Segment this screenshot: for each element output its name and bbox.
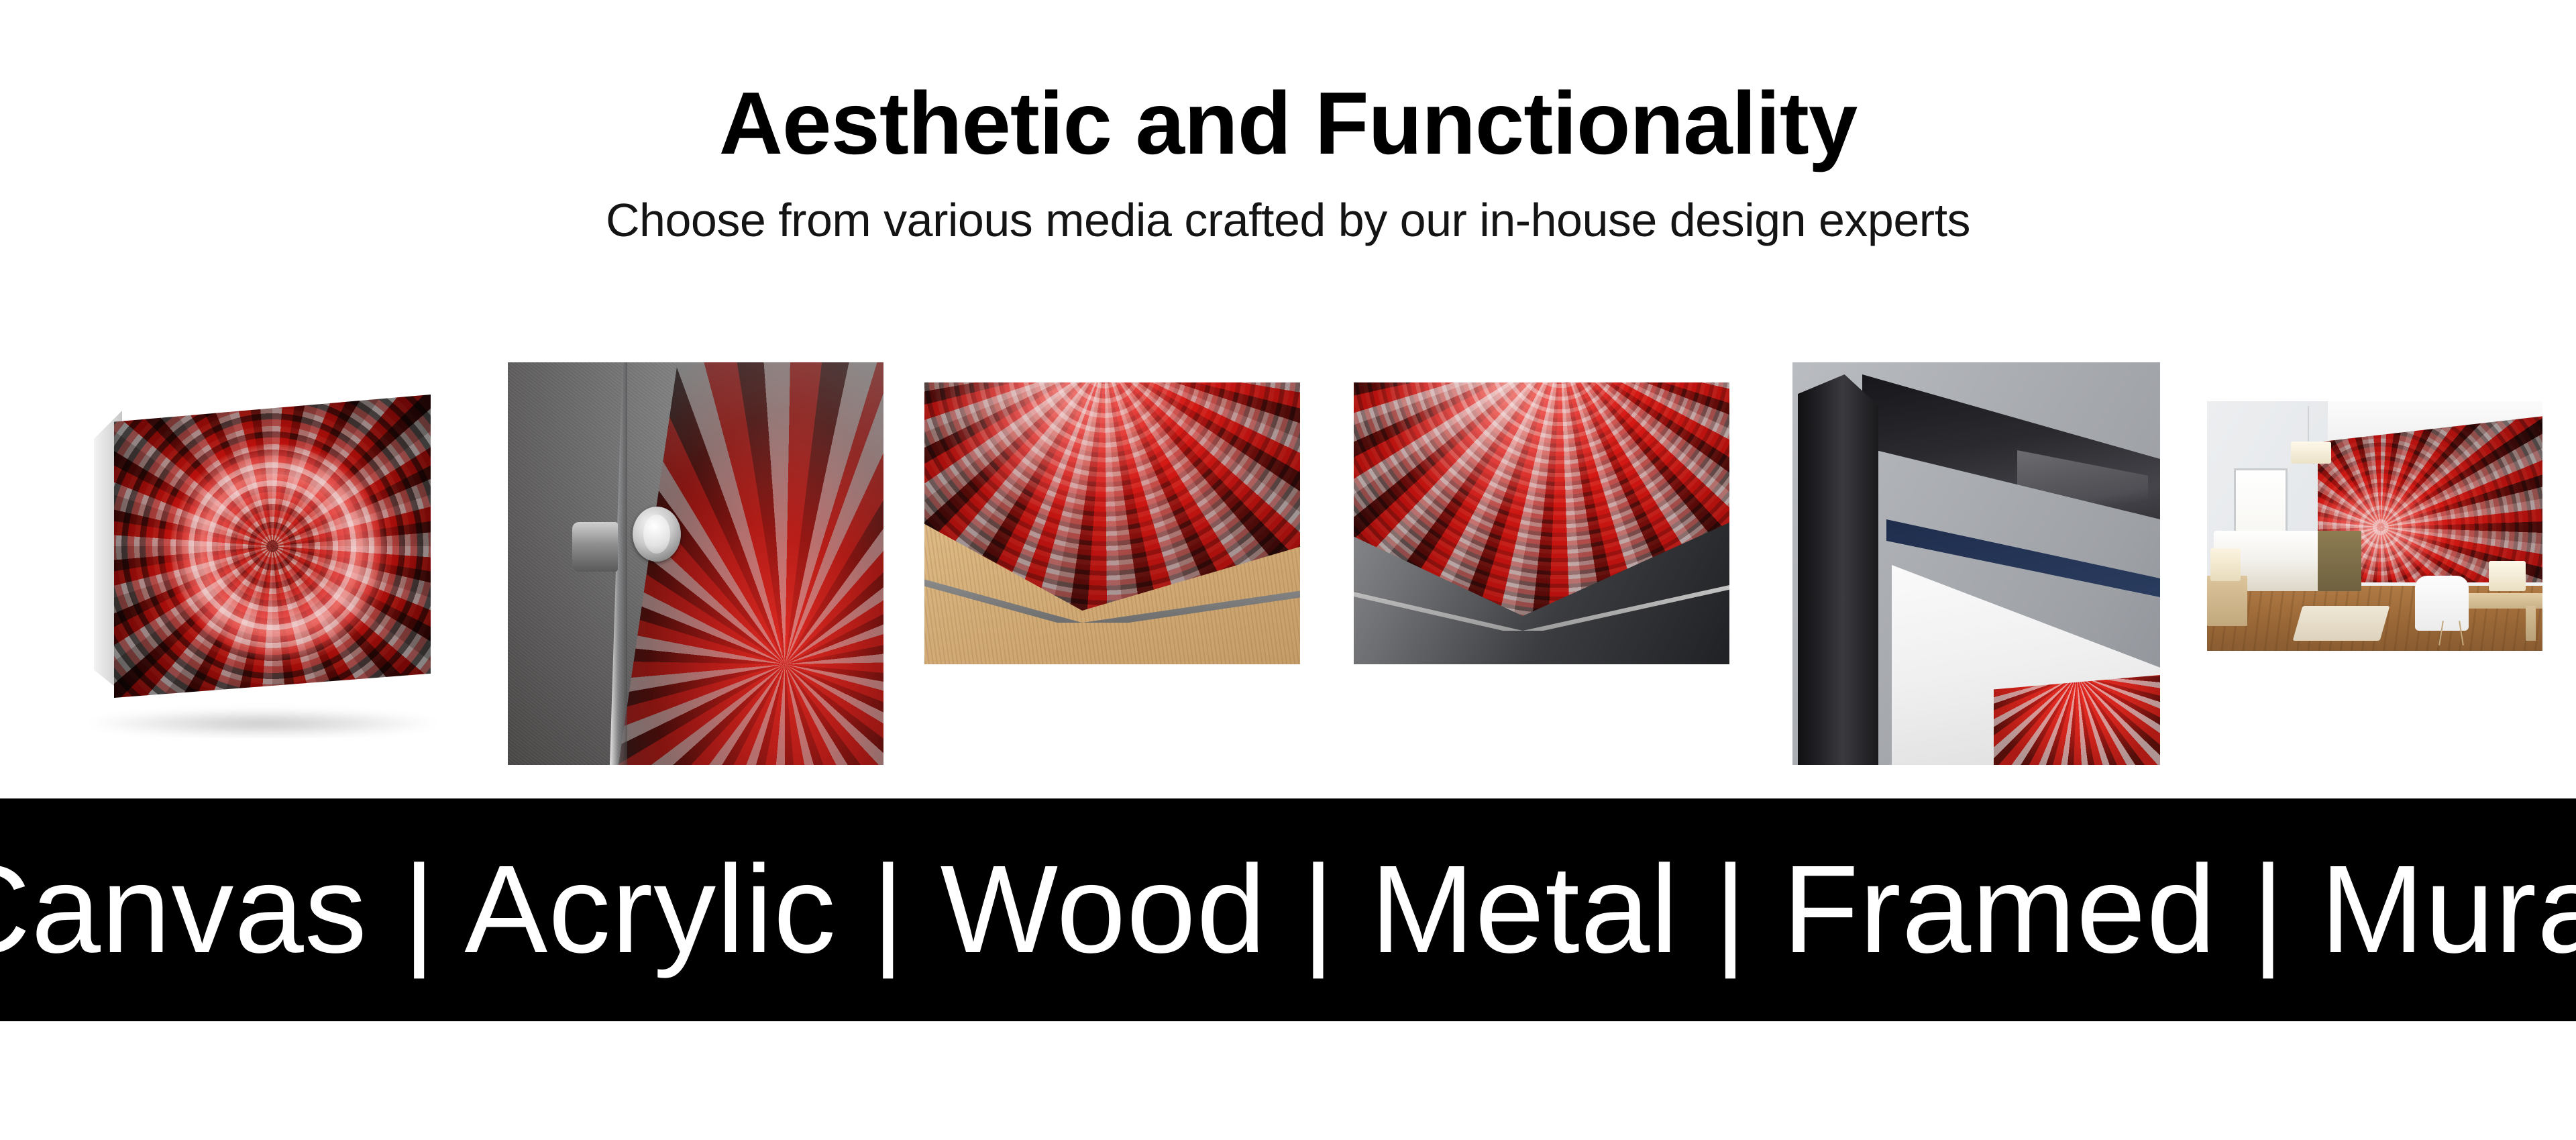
mural-area-rug <box>2293 606 2390 641</box>
media-types-label: Canvas | Acrylic | Wood | Metal | Framed… <box>0 847 2576 972</box>
canvas-drop-shadow <box>89 710 437 737</box>
media-thumb-wood[interactable] <box>924 382 1300 664</box>
mural-desk-leg <box>2526 606 2536 641</box>
framed-left-moulding <box>1798 374 1878 765</box>
media-types-bar: Canvas | Acrylic | Wood | Metal | Framed… <box>0 798 2576 1021</box>
media-thumb-metal[interactable] <box>1354 382 1729 664</box>
media-gallery-strip <box>0 362 2576 778</box>
header-block: Aesthetic and Functionality Choose from … <box>0 74 2576 248</box>
mural-right-table-lamp <box>2489 561 2526 591</box>
mural-pendant-cord <box>2308 406 2309 446</box>
media-promo-banner: Aesthetic and Functionality Choose from … <box>0 0 2576 1140</box>
page-subtitle: Choose from various media crafted by our… <box>0 192 2576 248</box>
media-thumb-acrylic[interactable] <box>508 362 883 765</box>
mural-bed-throw <box>2318 531 2361 590</box>
mural-left-table-lamp <box>2210 548 2241 580</box>
media-thumb-framed[interactable] <box>1792 362 2160 765</box>
media-thumb-canvas[interactable] <box>74 376 463 738</box>
framed-artwork-face <box>1994 675 2160 765</box>
canvas-artwork-face <box>114 395 431 698</box>
acrylic-standoff-cap <box>633 507 681 562</box>
mural-nightstand <box>2207 576 2247 625</box>
media-thumb-mural[interactable] <box>2207 401 2542 651</box>
acrylic-standoff-post <box>572 522 618 572</box>
page-title: Aesthetic and Functionality <box>0 74 2576 173</box>
mural-pendant-lamp <box>2291 442 2331 464</box>
